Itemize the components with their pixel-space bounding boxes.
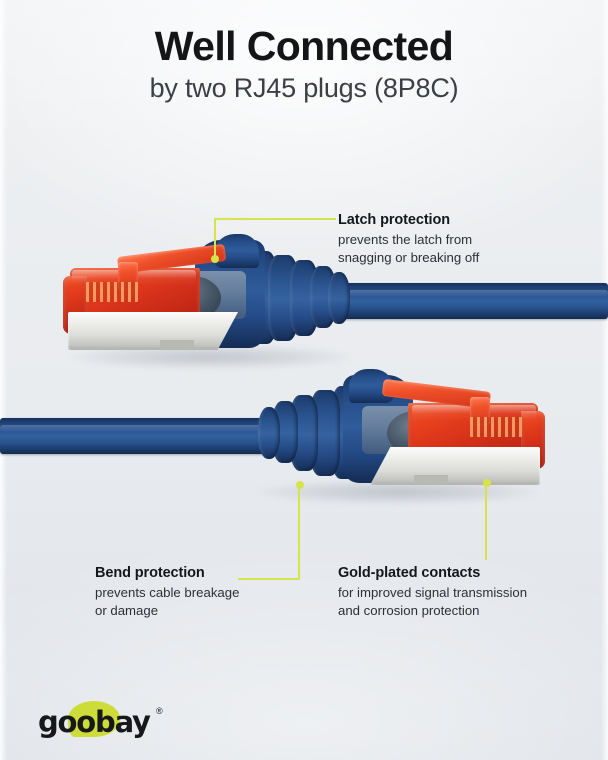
callout-gold-line1: for improved signal transmission (338, 584, 527, 602)
right-edge-highlight (601, 0, 608, 760)
callout-latch-line2: snagging or breaking off (338, 249, 479, 267)
page-subtitle: by two RJ45 plugs (8P8C) (0, 73, 608, 104)
leader-line-bend-vertical (298, 484, 300, 580)
shield-notch-top (160, 340, 194, 349)
leader-dot-bend (296, 481, 304, 489)
callout-bend-protection: Bend protection prevents cable breakage … (95, 565, 239, 620)
callout-latch-heading: Latch protection (338, 212, 479, 228)
callout-gold-heading: Gold-plated contacts (338, 565, 527, 581)
leader-line-bend-horizontal (238, 578, 300, 580)
goobay-logo: goobay ® (38, 700, 178, 740)
leader-dot-gold (483, 479, 491, 487)
leader-line-latch-vertical (214, 218, 216, 260)
callout-bend-line2: or damage (95, 602, 239, 620)
gold-contacts-top (86, 282, 138, 302)
left-edge-highlight (0, 0, 7, 760)
callout-latch-protection: Latch protection prevents the latch from… (338, 212, 479, 267)
callout-bend-line1: prevents cable breakage (95, 584, 239, 602)
callout-bend-heading: Bend protection (95, 565, 239, 581)
logo-wordmark: goobay (38, 705, 150, 739)
leader-dot-latch (211, 255, 219, 263)
gold-contacts-bottom (470, 417, 522, 437)
metal-shield-top (68, 312, 238, 350)
shield-notch-bottom (414, 475, 448, 484)
boot-ridge-5-top (328, 272, 350, 324)
leader-line-latch-horizontal (214, 218, 336, 220)
cable-segment-top (330, 283, 608, 319)
callout-gold-plated-contacts: Gold-plated contacts for improved signal… (338, 565, 527, 620)
leader-line-gold-vertical (485, 482, 487, 560)
cable-segment-bottom (0, 418, 278, 454)
boot-ridge-5-bottom (258, 407, 280, 459)
callout-latch-line1: prevents the latch from (338, 231, 479, 249)
infographic-poster: Well Connected by two RJ45 plugs (8P8C) (0, 0, 608, 760)
background-sheen (0, 0, 608, 760)
page-title: Well Connected (0, 24, 608, 68)
logo-registered-mark: ® (156, 706, 163, 716)
callout-gold-line2: and corrosion protection (338, 602, 527, 620)
metal-shield-bottom (370, 447, 540, 485)
